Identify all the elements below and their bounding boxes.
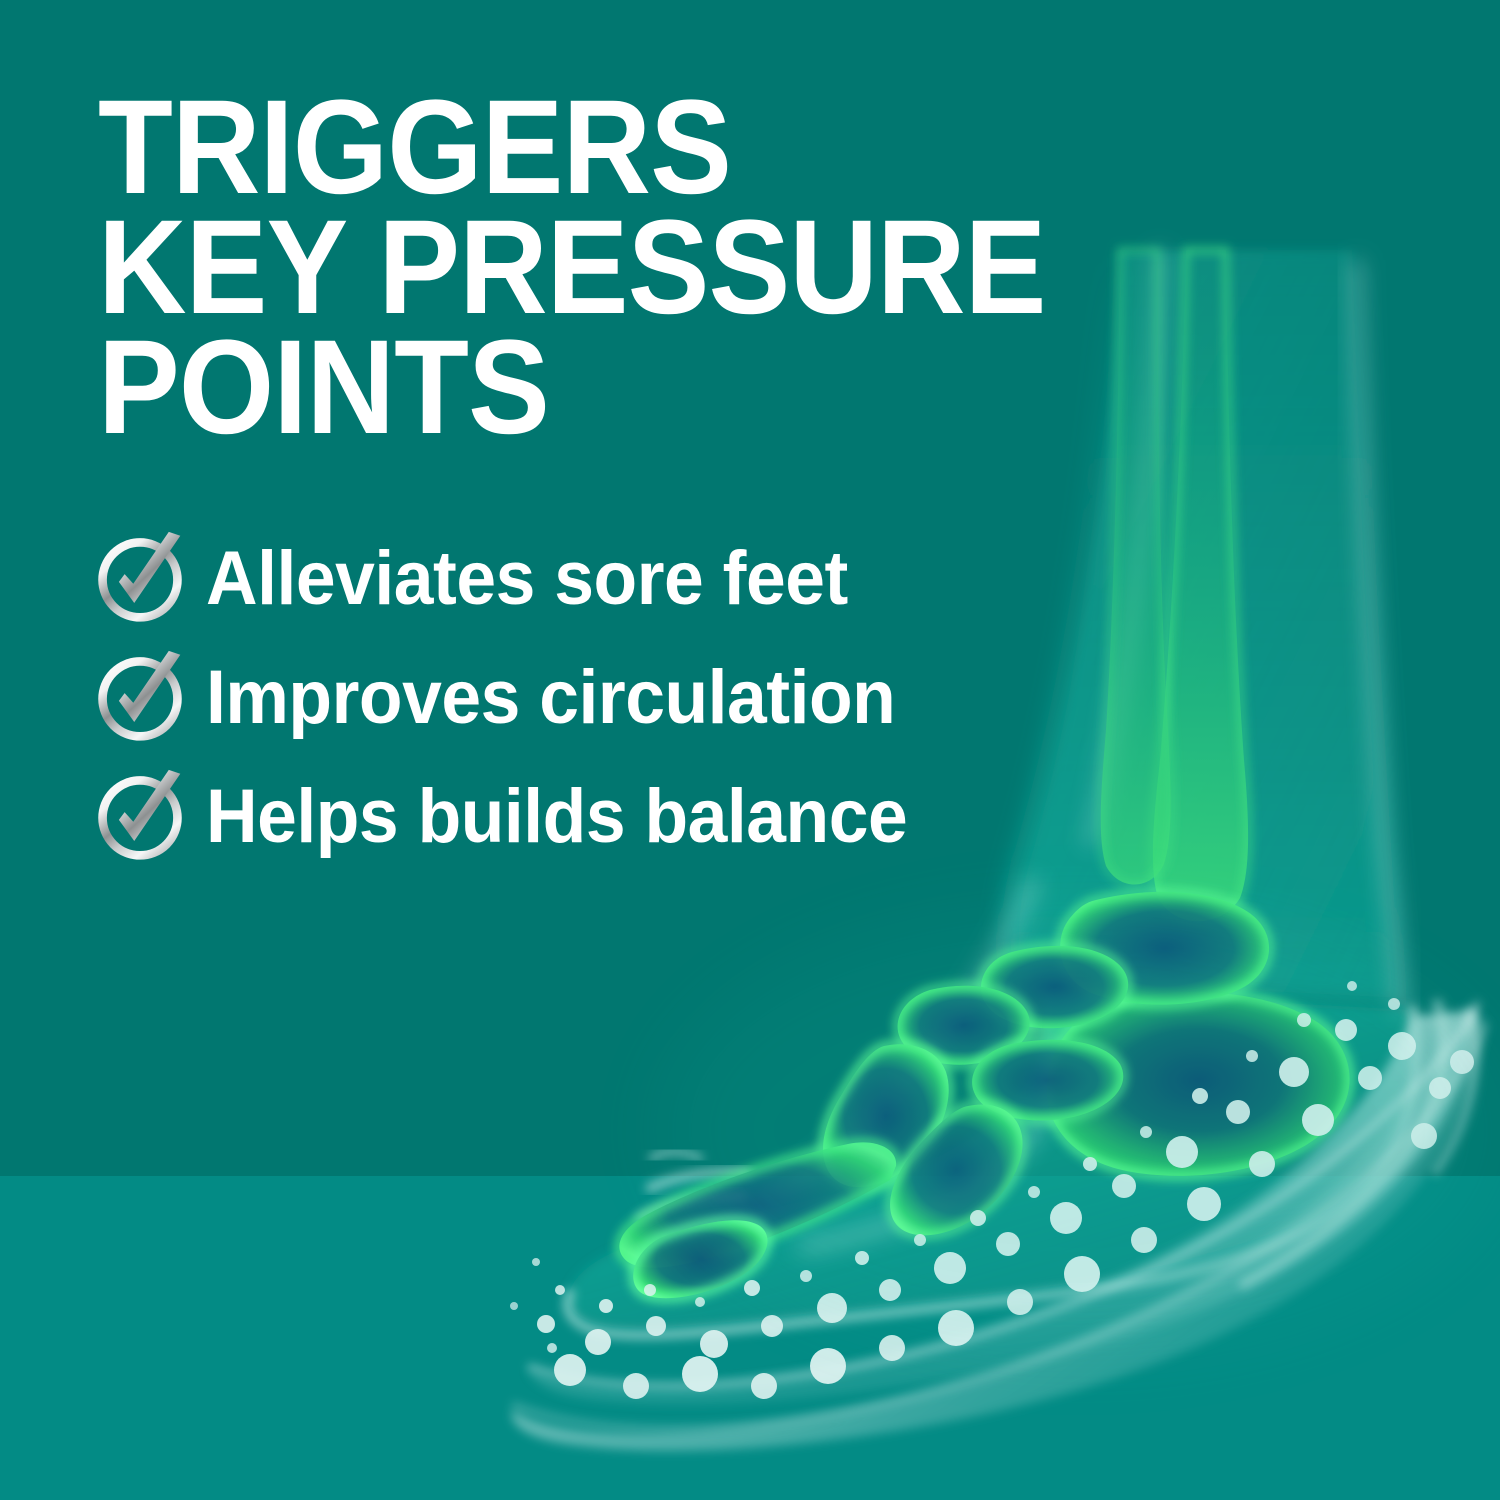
- background-lower-band: [0, 1176, 1500, 1500]
- benefit-label: Helps builds balance: [206, 779, 907, 855]
- promo-graphic-canvas: TRIGGERS KEY PRESSURE POINTS: [0, 0, 1500, 1500]
- check-circle-icon: [92, 649, 188, 745]
- benefit-label: Improves circulation: [206, 660, 895, 736]
- benefits-list: Alleviates sore feet: [92, 518, 1052, 875]
- headline-line-1: TRIGGERS: [98, 88, 995, 208]
- check-circle-icon: [92, 530, 188, 626]
- headline-block: TRIGGERS KEY PRESSURE POINTS: [98, 88, 1078, 448]
- check-circle-icon: [92, 768, 188, 864]
- list-item: Helps builds balance: [92, 756, 1052, 875]
- benefit-label: Alleviates sore feet: [206, 541, 848, 617]
- list-item: Improves circulation: [92, 637, 1052, 756]
- list-item: Alleviates sore feet: [92, 518, 1052, 637]
- headline-line-3: POINTS: [98, 328, 995, 448]
- headline-line-2: KEY PRESSURE: [98, 208, 995, 328]
